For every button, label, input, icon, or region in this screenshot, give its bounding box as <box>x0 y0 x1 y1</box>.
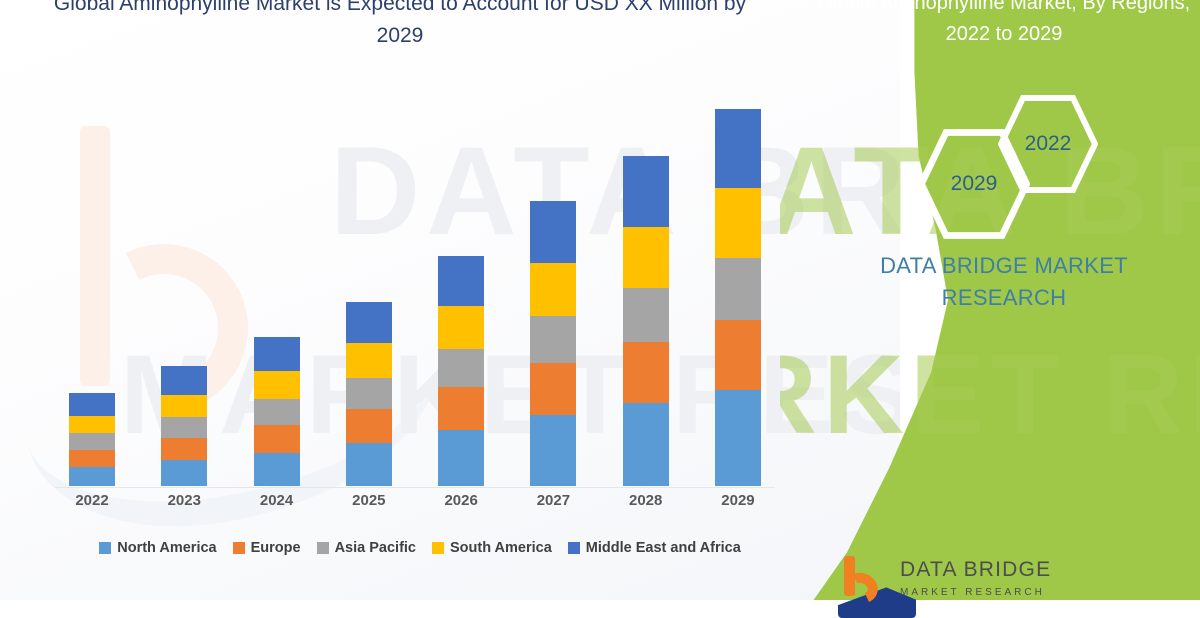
legend-swatch <box>99 542 111 554</box>
bar-segment <box>254 425 300 453</box>
bar-segment <box>438 387 484 430</box>
bar-segment <box>438 306 484 349</box>
x-axis-labels: 20222023202420252026202720282029 <box>55 492 775 509</box>
legend-item[interactable]: Europe <box>233 540 301 556</box>
bar-segment <box>254 399 300 425</box>
bar-segment <box>715 109 761 188</box>
logo-b-icon <box>838 556 890 602</box>
bar-segment <box>623 227 669 288</box>
bar-segment <box>530 415 576 486</box>
bar-segment <box>438 256 484 306</box>
bar-column <box>530 100 576 486</box>
brand-line-2: RESEARCH <box>808 282 1200 314</box>
bar-segment <box>161 460 207 486</box>
bar-column <box>623 100 669 486</box>
panel-title: Global Aminophylline Market, By Regions,… <box>808 0 1200 50</box>
x-axis-label: 2028 <box>623 492 669 509</box>
x-axis-label: 2027 <box>530 492 576 509</box>
bar-segment <box>346 302 392 344</box>
legend-label: Middle East and Africa <box>586 540 741 556</box>
chart-panel: DATA BRIDGE MARKET RESEARCH Global Amino… <box>0 0 900 600</box>
bar-segment <box>69 433 115 449</box>
bar-segment <box>161 438 207 461</box>
bar-segment <box>254 371 300 399</box>
bar-segment <box>161 395 207 418</box>
legend-item[interactable]: South America <box>432 540 552 556</box>
chart-title: Global Aminophylline Market is Expected … <box>50 0 750 52</box>
bar-segment <box>346 409 392 443</box>
chart-legend: North AmericaEuropeAsia PacificSouth Ame… <box>55 540 785 556</box>
bar-group <box>55 100 775 486</box>
green-side-panel: DATA BRIDGE MARKET RESEARCH Global Amino… <box>780 0 1200 600</box>
brand-block: DATA BRIDGE MARKET RESEARCH <box>808 250 1200 314</box>
bar-segment <box>530 316 576 363</box>
bar-segment <box>438 430 484 486</box>
legend-swatch <box>568 542 580 554</box>
bar-segment <box>69 450 115 467</box>
bar-segment <box>623 156 669 227</box>
brand-line-1: DATA BRIDGE MARKET <box>808 250 1200 282</box>
bar-column <box>254 100 300 486</box>
legend-swatch <box>233 542 245 554</box>
bar-segment <box>623 403 669 486</box>
legend-label: South America <box>450 540 552 556</box>
bar-segment <box>254 453 300 486</box>
legend-swatch <box>432 542 444 554</box>
legend-swatch <box>317 542 329 554</box>
bar-column <box>69 100 115 486</box>
bar-segment <box>254 337 300 371</box>
hexagon-2022: 2022 <box>998 94 1098 194</box>
bar-segment <box>715 258 761 320</box>
plot-area <box>55 100 775 486</box>
infographic-stage: DATA BRIDGE MARKET RESEARCH Global Amino… <box>0 0 1200 600</box>
logo-divider <box>900 583 1052 585</box>
bar-segment <box>715 320 761 390</box>
x-axis-label: 2022 <box>69 492 115 509</box>
bar-segment <box>530 263 576 316</box>
legend-label: Europe <box>251 540 301 556</box>
x-axis-label: 2024 <box>254 492 300 509</box>
bar-segment <box>346 378 392 409</box>
bar-segment <box>346 343 392 377</box>
bar-column <box>346 100 392 486</box>
bar-segment <box>715 188 761 258</box>
bar-segment <box>530 201 576 263</box>
bar-segment <box>623 342 669 403</box>
bar-segment <box>161 417 207 437</box>
company-logo: DATA BRIDGE MARKET RESEARCH <box>838 556 1088 606</box>
bar-segment <box>438 349 484 388</box>
bar-column <box>161 100 207 486</box>
bar-column <box>715 100 761 486</box>
x-axis-label: 2026 <box>438 492 484 509</box>
hexagon-2022-label: 2022 <box>1025 132 1072 156</box>
bar-segment <box>715 390 761 487</box>
legend-item[interactable]: Asia Pacific <box>317 540 416 556</box>
x-axis-label: 2023 <box>161 492 207 509</box>
legend-label: Asia Pacific <box>335 540 416 556</box>
bar-segment <box>623 288 669 343</box>
bar-segment <box>69 416 115 433</box>
x-axis-label: 2029 <box>715 492 761 509</box>
hexagon-2029-label: 2029 <box>951 172 998 196</box>
legend-label: North America <box>117 540 216 556</box>
bar-segment <box>69 393 115 417</box>
bar-column <box>438 100 484 486</box>
bar-segment <box>161 366 207 395</box>
bar-segment <box>530 363 576 416</box>
logo-subtitle: MARKET RESEARCH <box>900 587 1052 598</box>
x-axis-line <box>55 487 775 488</box>
hexagon-group: 2029 2022 <box>900 92 1150 232</box>
logo-title: DATA BRIDGE <box>900 558 1052 582</box>
bar-segment <box>69 467 115 486</box>
legend-item[interactable]: Middle East and Africa <box>568 540 741 556</box>
legend-item[interactable]: North America <box>99 540 216 556</box>
bar-segment <box>346 443 392 486</box>
logo-text: DATA BRIDGE MARKET RESEARCH <box>900 558 1052 598</box>
x-axis-label: 2025 <box>346 492 392 509</box>
green-watermark-line2: MARKET RESEARCH <box>780 330 1200 459</box>
